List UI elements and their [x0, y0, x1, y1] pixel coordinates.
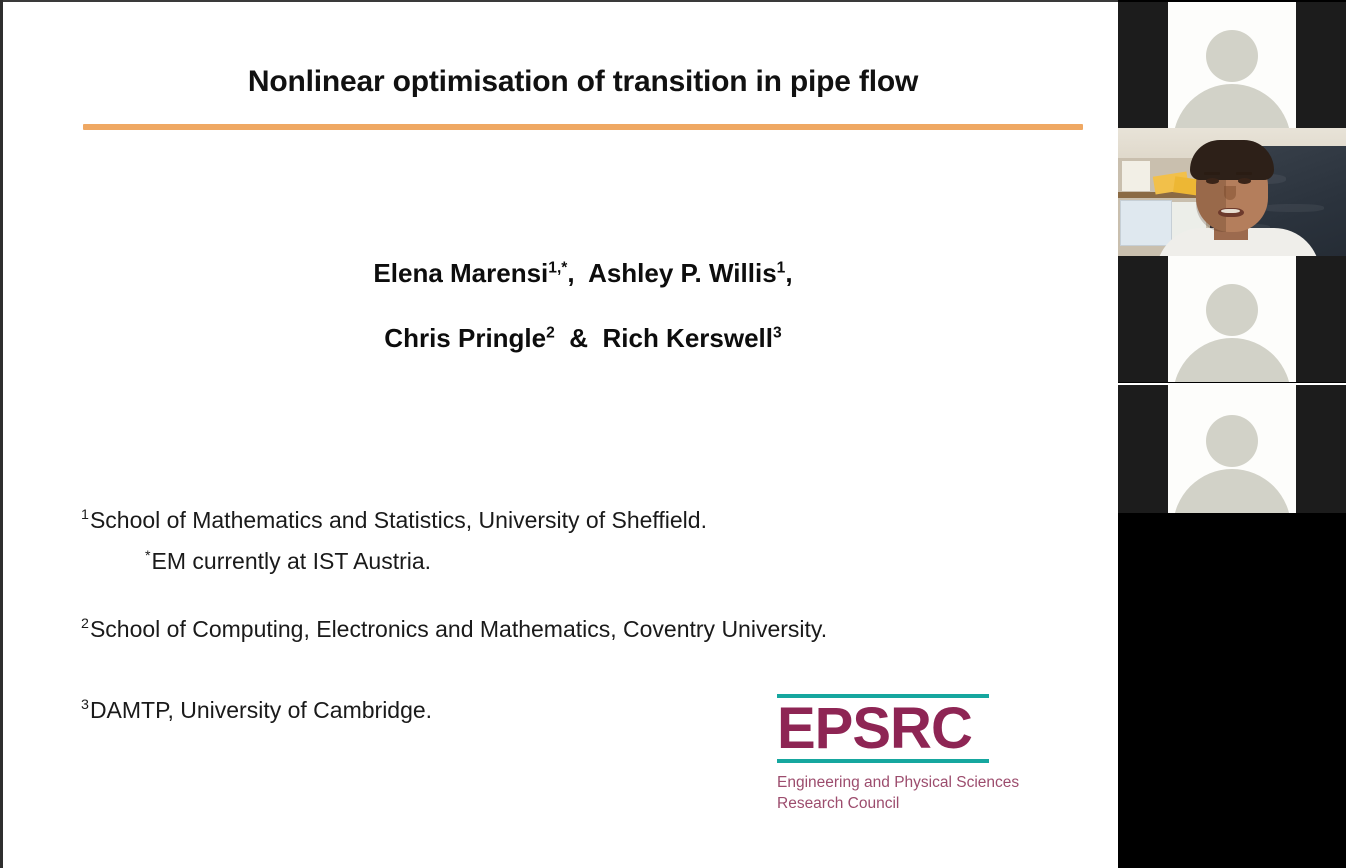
avatar-head-icon: [1206, 284, 1258, 336]
screen-share-region[interactable]: Nonlinear optimisation of transition in …: [0, 0, 1158, 868]
avatar-placeholder-card: [1168, 2, 1296, 128]
affiliation-list: 1School of Mathematics and Statistics, U…: [81, 509, 1101, 722]
affiliation-text: School of Mathematics and Statistics, Un…: [90, 507, 707, 533]
avatar-placeholder-card: [1168, 385, 1296, 513]
background-poster: [1120, 200, 1172, 246]
avatar-body-icon: [1173, 338, 1291, 382]
avatar-head-icon: [1206, 415, 1258, 467]
webcam-video-feed: [1118, 128, 1346, 256]
chalkboard-scuff: [1262, 204, 1324, 212]
slide-title: Nonlinear optimisation of transition in …: [83, 64, 1083, 100]
gallery-empty-area: [1118, 513, 1346, 868]
speaker-eye-right: [1238, 178, 1251, 184]
avatar-icon: [1168, 2, 1296, 128]
video-tile-3[interactable]: [1118, 256, 1346, 382]
epsrc-subtitle-line-1: Engineering and Physical Sciences: [777, 773, 1077, 794]
author-superscript: 3: [773, 324, 782, 341]
avatar-icon: [1168, 385, 1296, 513]
affiliation-marker: 2: [81, 616, 89, 632]
video-tile-4[interactable]: [1118, 385, 1346, 513]
speaker-eye-left: [1206, 178, 1219, 184]
slide-left-border: [0, 0, 3, 868]
affiliation-text: School of Computing, Electronics and Mat…: [90, 616, 827, 642]
affiliation-item: 1School of Mathematics and Statistics, U…: [81, 509, 1101, 532]
affiliation-item-note: *EM currently at IST Austria.: [145, 550, 1101, 573]
speaker-eyebrow-right: [1236, 172, 1252, 175]
background-paper: [1122, 161, 1150, 191]
author-line-1: Elena Marensi1,*, Ashley P. Willis1,: [83, 260, 1083, 286]
meeting-window: Nonlinear optimisation of transition in …: [0, 0, 1346, 868]
video-tile-2-active-speaker[interactable]: [1118, 128, 1346, 256]
slide-top-border: [0, 0, 1158, 2]
epsrc-subtitle-line-2: Research Council: [777, 794, 1077, 815]
speaker-nose: [1224, 186, 1236, 200]
affiliation-marker: *: [145, 548, 151, 564]
avatar-body-icon: [1173, 84, 1291, 128]
video-tile-1[interactable]: [1118, 2, 1346, 128]
presentation-slide: Nonlinear optimisation of transition in …: [3, 2, 1158, 868]
avatar-icon: [1168, 256, 1296, 382]
affiliation-marker: 3: [81, 697, 89, 713]
speaker-teeth: [1221, 209, 1240, 213]
speaker-eyebrow-left: [1204, 172, 1220, 175]
speaker-hair: [1190, 140, 1274, 180]
author-superscript: 2: [546, 324, 555, 341]
affiliation-text: EM currently at IST Austria.: [152, 548, 432, 574]
author-superscript: 1,*: [548, 259, 567, 276]
epsrc-subtitle: Engineering and Physical Sciences Resear…: [777, 773, 1077, 815]
avatar-body-icon: [1173, 469, 1291, 513]
author-superscript: 1: [777, 259, 786, 276]
title-underline-rule: [83, 124, 1083, 130]
avatar-head-icon: [1206, 30, 1258, 82]
epsrc-wordmark: EPSRC: [777, 701, 1077, 757]
affiliation-text: DAMTP, University of Cambridge.: [90, 697, 432, 723]
affiliation-item: 2School of Computing, Electronics and Ma…: [81, 618, 1101, 641]
author-list: Elena Marensi1,*, Ashley P. Willis1, Chr…: [83, 260, 1083, 351]
author-line-2: Chris Pringle2 & Rich Kerswell3: [83, 325, 1083, 351]
participant-gallery-strip[interactable]: [1118, 0, 1346, 868]
avatar-placeholder-card: [1168, 256, 1296, 382]
epsrc-logo: EPSRC Engineering and Physical Sciences …: [777, 694, 1077, 815]
affiliation-marker: 1: [81, 507, 89, 523]
